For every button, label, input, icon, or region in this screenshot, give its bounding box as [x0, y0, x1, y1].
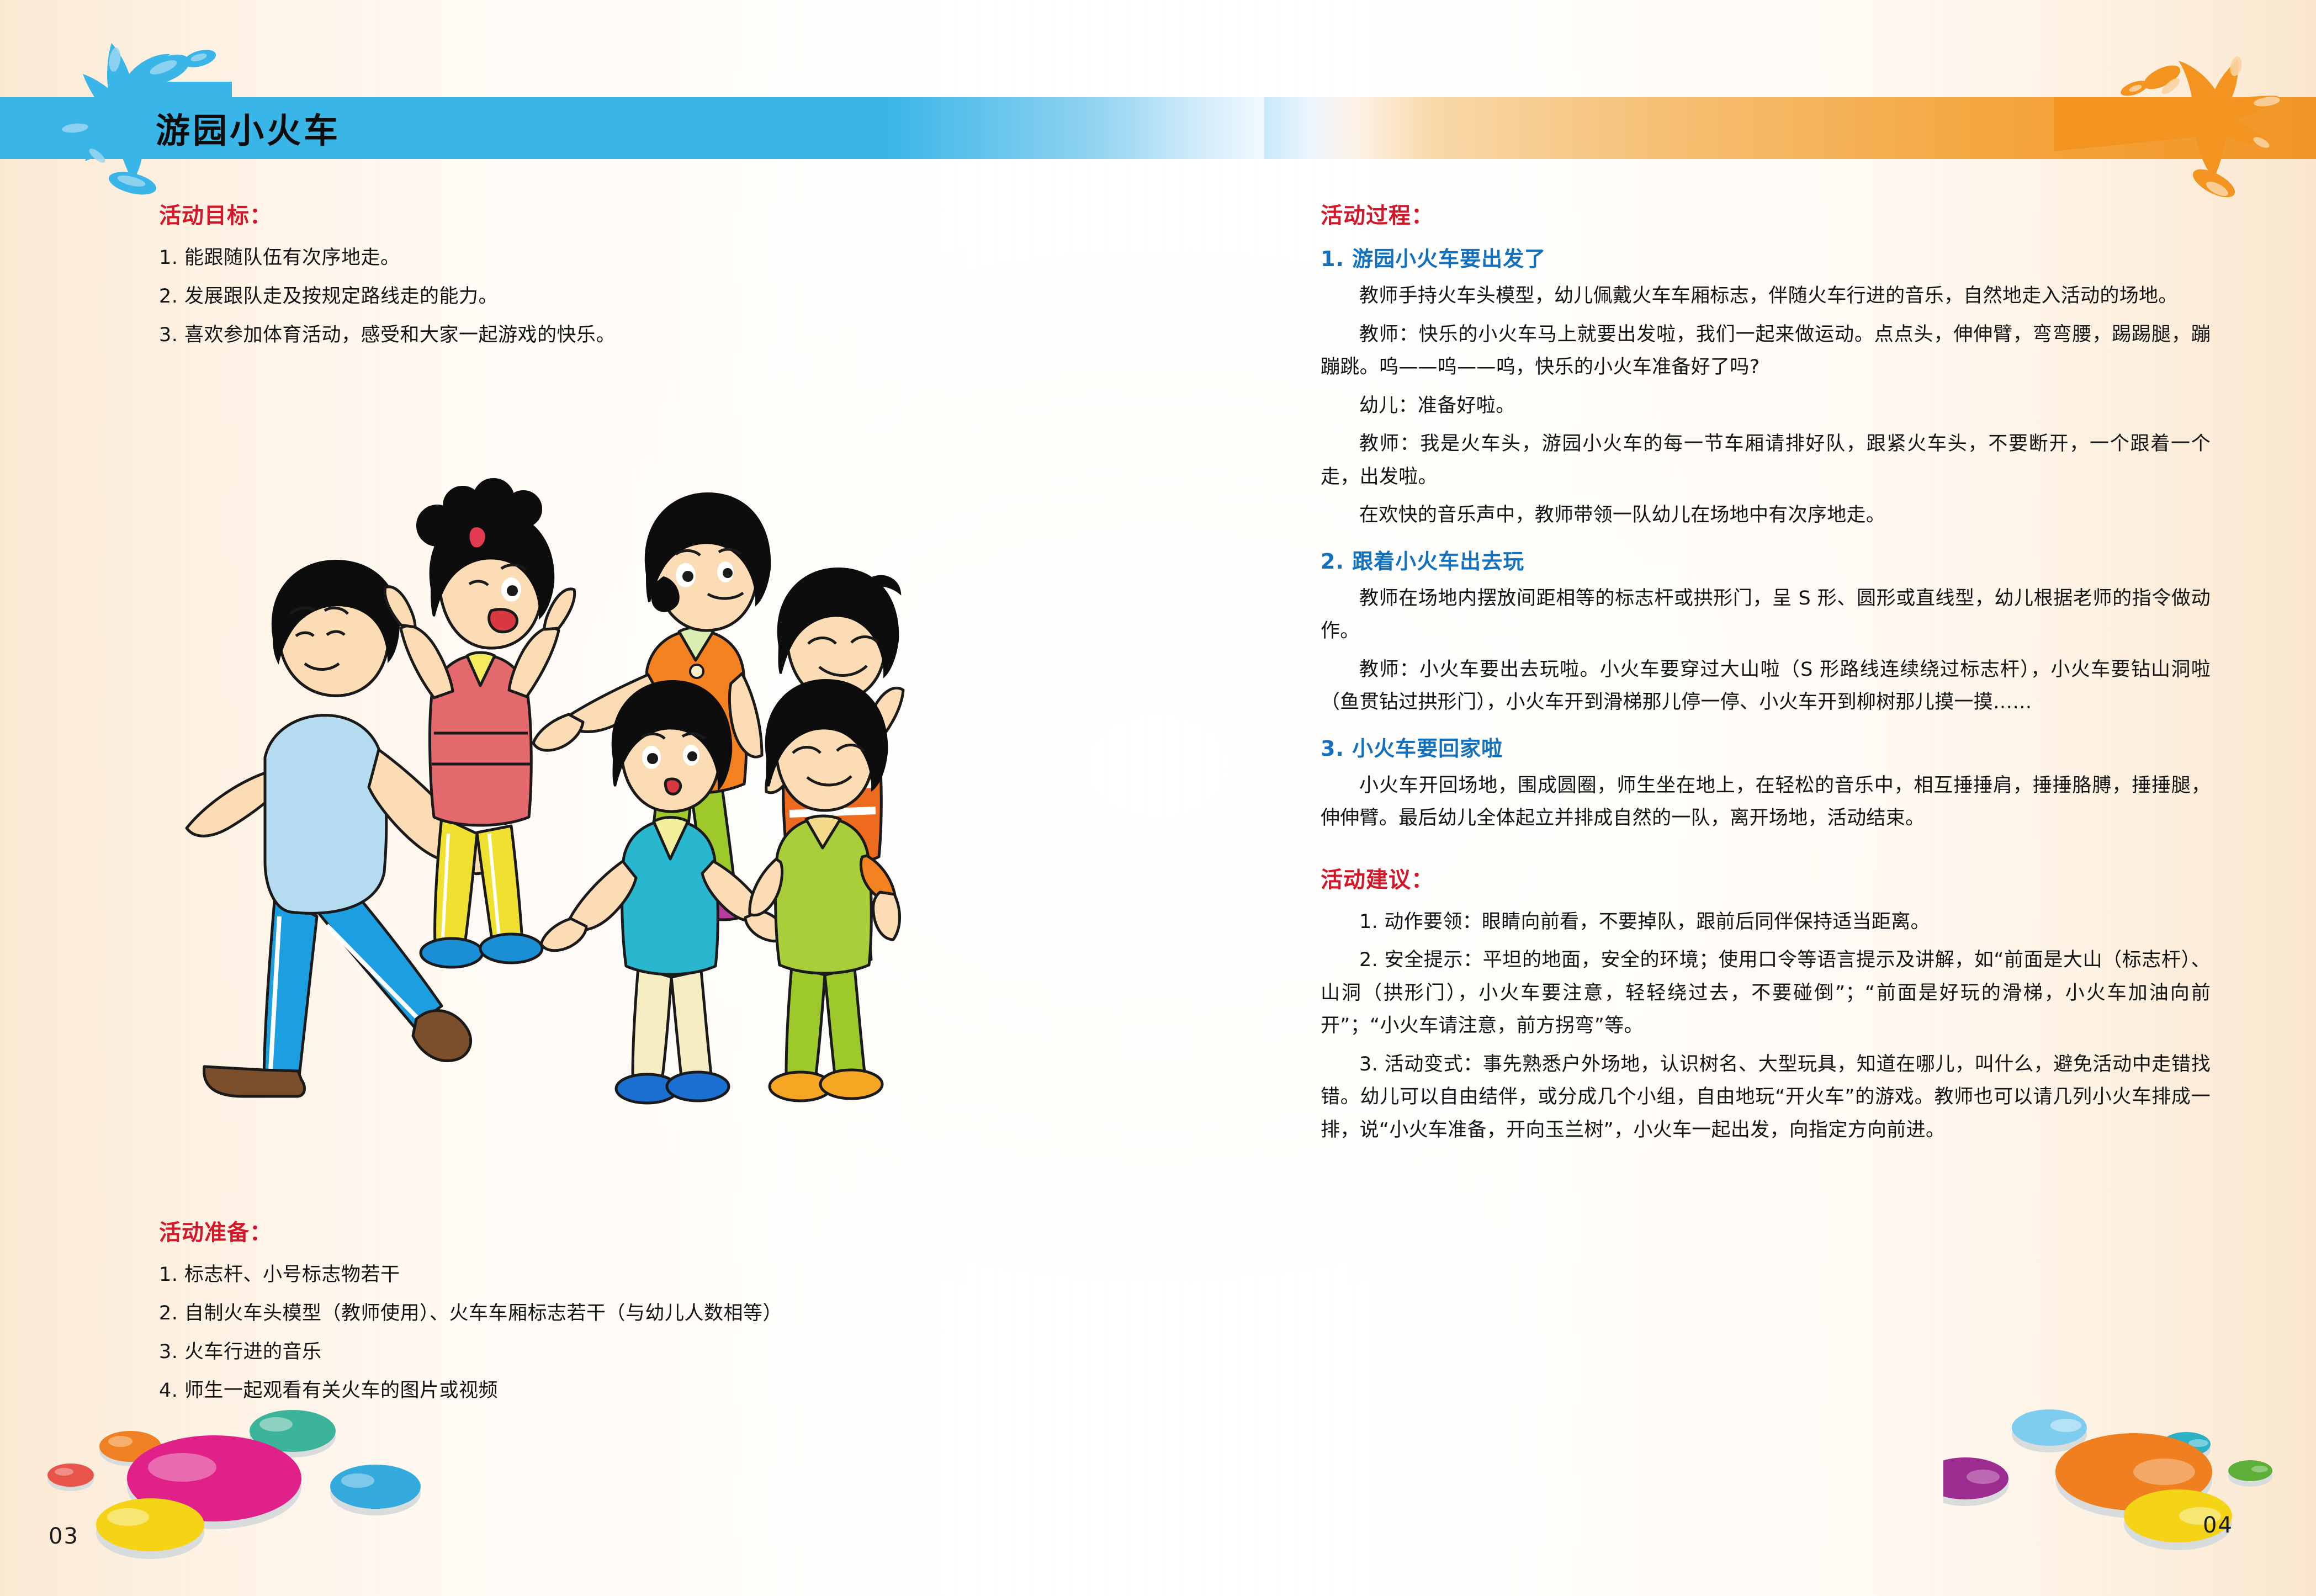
- process-paragraph: 小火车开回场地，围成圆圈，师生坐在地上，在轻松的音乐中，相互捶捶肩，捶捶胳膊，捶…: [1321, 770, 2211, 835]
- child-boy-green-overalls: [750, 680, 900, 1101]
- suggestions-heading: 活动建议：: [1321, 862, 2211, 894]
- objective-item: 2. 发展跟队走及按规定路线走的能力。: [159, 280, 1120, 312]
- process-paragraph: 教师：我是火车头，游园小火车的每一节车厢请排好队，跟紧火车头，不要断开，一个跟着…: [1321, 428, 2211, 494]
- suggestion-item: 2. 安全提示：平坦的地面，安全的环境；使用口令等语言提示及讲解，如“前面是大山…: [1321, 944, 2211, 1043]
- page-title: 游园小火车: [156, 103, 341, 152]
- suggestion-item: 1. 动作要领：眼睛向前看，不要掉队，跟前后同伴保持适当距离。: [1321, 906, 2211, 939]
- right-column: 活动过程： 1. 游园小火车要出发了 教师手持火车头模型，幼儿佩戴火车车厢标志，…: [1321, 198, 2211, 1152]
- page-number-left: 03: [49, 1524, 79, 1549]
- process-paragraph: 教师：小火车要出去玩啦。小火车要穿过大山啦（S 形路线连续绕过标志杆），小火车要…: [1321, 654, 2211, 719]
- decorative-dots-right: [1943, 1364, 2316, 1584]
- process-paragraph: 在欢快的音乐声中，教师带领一队幼儿在场地中有次序地走。: [1321, 499, 2211, 532]
- suggestions-block: 活动建议： 1. 动作要领：眼睛向前看，不要掉队，跟前后同伴保持适当距离。 2.…: [1321, 862, 2211, 1147]
- process-paragraph: 教师：快乐的小火车马上就要出发啦，我们一起来做运动。点点头，伸伸臂，弯弯腰，踢踢…: [1321, 319, 2211, 384]
- suggestion-item: 3. 活动变式：事先熟悉户外场地，认识树名、大型玩具，知道在哪儿，叫什么，避免活…: [1321, 1048, 2211, 1147]
- objectives-heading: 活动目标：: [159, 198, 1120, 230]
- objective-item: 1. 能跟随队伍有次序地走。: [159, 242, 1120, 274]
- child-girl-pink: [385, 479, 575, 967]
- page-number-right: 04: [2203, 1513, 2233, 1538]
- children-and-teacher-illustration: .sk{fill:#fbdcb5;stroke:#1a1a1a;stroke-w…: [182, 475, 955, 1154]
- process-step-title-2: 2. 跟着小火车出去玩: [1321, 544, 2211, 575]
- orange-splash-icon: [2054, 29, 2291, 205]
- process-step-title-1: 1. 游园小火车要出发了: [1321, 242, 2211, 272]
- process-heading: 活动过程：: [1321, 198, 2211, 230]
- decorative-dots-left: [22, 1369, 442, 1590]
- preparation-item: 2. 自制火车头模型（教师使用）、火车车厢标志若干（与幼儿人数相等）: [159, 1297, 1120, 1329]
- process-paragraph: 教师在场地内摆放间距相等的标志杆或拱形门，呈 S 形、圆形或直线型，幼儿根据老师…: [1321, 582, 2211, 648]
- process-paragraph: 教师手持火车头模型，幼儿佩戴火车车厢标志，伴随火车行进的音乐，自然地走入活动的场…: [1321, 280, 2211, 313]
- process-step-title-3: 3. 小火车要回家啦: [1321, 731, 2211, 762]
- objective-item: 3. 喜欢参加体育活动，感受和大家一起游戏的快乐。: [159, 319, 1120, 351]
- preparation-heading: 活动准备：: [159, 1215, 1120, 1247]
- preparation-item: 3. 火车行进的音乐: [159, 1336, 1120, 1368]
- left-column: 活动目标： 1. 能跟随队伍有次序地走。 2. 发展跟队走及按规定路线走的能力。…: [159, 198, 1120, 358]
- process-paragraph: 幼儿：准备好啦。: [1321, 390, 2211, 423]
- preparation-item: 1. 标志杆、小号标志物若干: [159, 1259, 1120, 1291]
